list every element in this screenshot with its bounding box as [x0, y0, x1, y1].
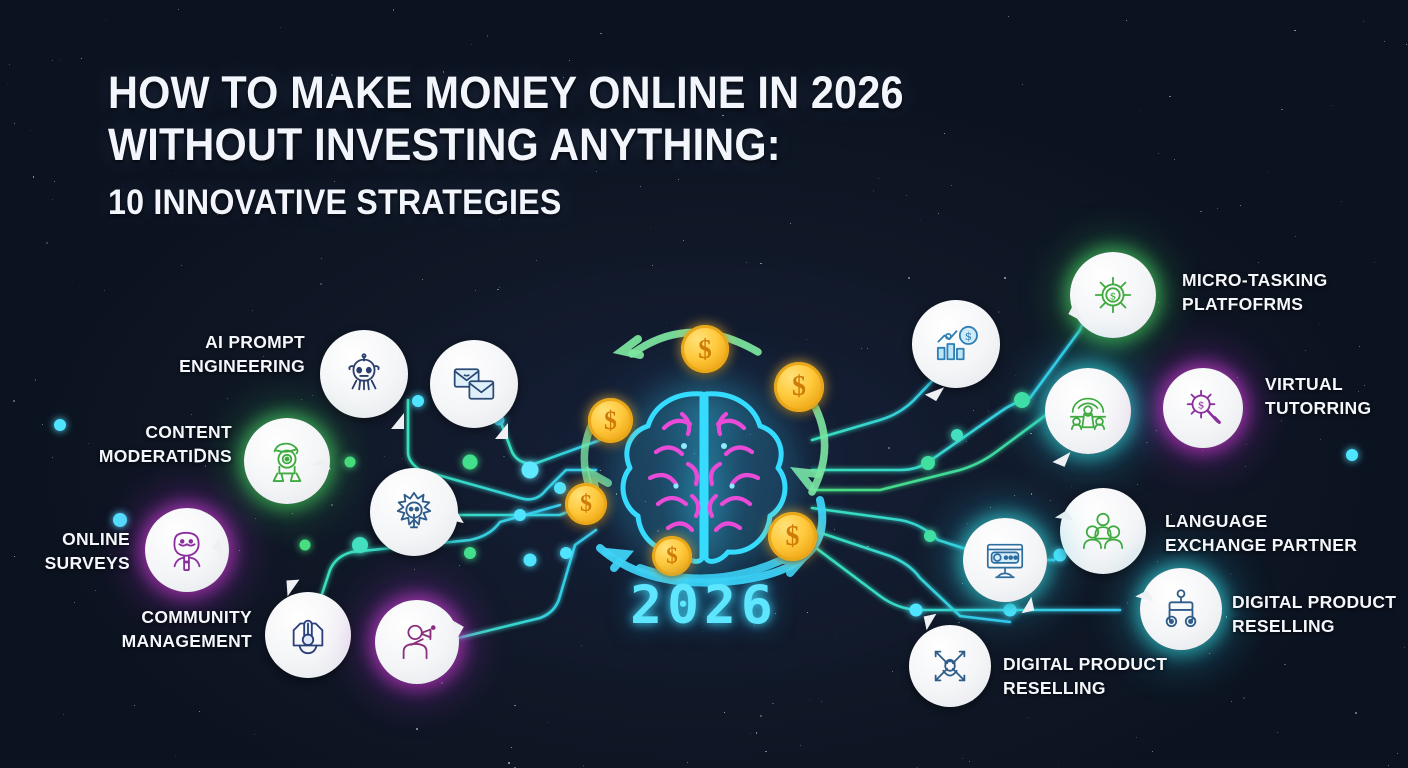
node-virtual-assistance[interactable]: [370, 468, 458, 556]
node-social-media-marketing[interactable]: [375, 600, 459, 684]
coin-icon-6: $: [652, 536, 692, 576]
coin-icon-2: $: [774, 362, 824, 412]
node-language-exchange[interactable]: [1060, 488, 1146, 574]
node-stream-monetization[interactable]: [963, 518, 1047, 602]
node-online-surveys[interactable]: [145, 508, 229, 592]
node-affiliate-analytics[interactable]: $: [912, 300, 1000, 388]
node-micro-tasking-platforms[interactable]: $: [1070, 252, 1156, 338]
label-ai-prompt-engineering: AI Prompt Engineering: [60, 330, 305, 378]
label-language-exchange: Language Exchange Partner: [1165, 509, 1408, 557]
coin-icon-1: $: [681, 325, 729, 373]
page-title: How to Make Money Online in 2026 Without…: [108, 68, 973, 224]
year-display: 2026: [604, 575, 804, 636]
infographic-canvas: How to Make Money Online in 2026 Without…: [0, 0, 1408, 768]
label-online-surveys: Online Surveys: [0, 527, 130, 575]
node-digital-product-reselling-bottom[interactable]: [909, 625, 991, 707]
node-community-management[interactable]: [265, 592, 351, 678]
coin-icon-3: $: [588, 398, 633, 443]
node-webinar-hosting[interactable]: [1045, 368, 1131, 454]
node-ai-prompt-engineering[interactable]: [320, 330, 408, 418]
label-virtual-tutoring: Virtual Tutorring: [1265, 372, 1408, 420]
svg-text:$: $: [1110, 290, 1117, 302]
title-line-2: Without Investing Anything:: [108, 120, 904, 170]
title-line-3: 10 Innovative Strategies: [108, 182, 904, 224]
label-community-management: Community Management: [0, 605, 252, 653]
label-digital-product-bottom: Digital Product Reselling: [1003, 652, 1203, 700]
svg-text:$: $: [1198, 399, 1205, 411]
node-digital-product-reselling-top[interactable]: [1140, 568, 1222, 650]
node-email-outreach[interactable]: [430, 340, 518, 428]
node-virtual-tutoring[interactable]: $: [1163, 368, 1243, 448]
coin-icon-5: $: [768, 512, 817, 561]
coin-icon-4: $: [565, 483, 607, 525]
label-digital-product-top: Digital Product Reselling: [1232, 590, 1408, 638]
title-line-1: How to Make Money Online in 2026: [108, 68, 904, 118]
node-content-moderation[interactable]: [244, 418, 330, 504]
svg-text:$: $: [965, 329, 972, 343]
label-content-moderation: Content ModeratiⅮns: [0, 420, 232, 468]
label-micro-tasking-platforms: Micro-Tasking PlatfoFrms: [1182, 268, 1408, 316]
